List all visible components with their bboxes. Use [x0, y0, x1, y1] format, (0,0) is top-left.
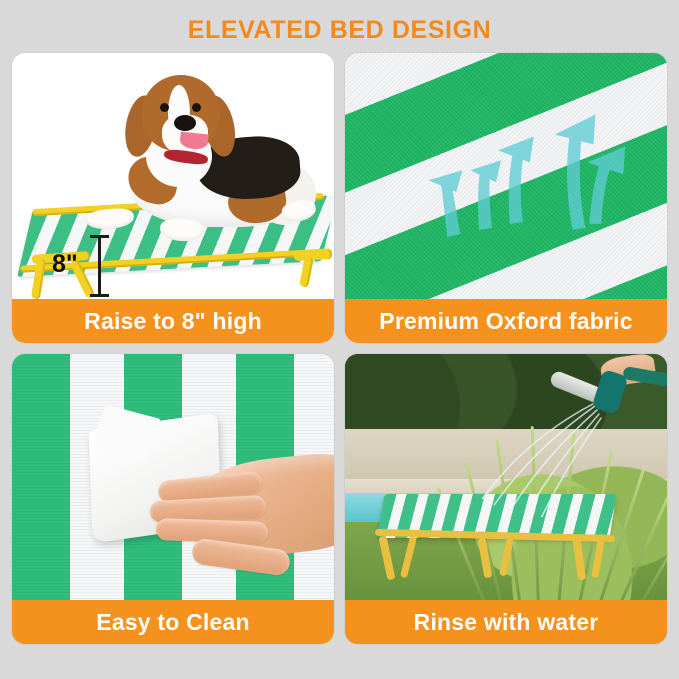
panel-fabric[interactable]: Premium Oxford fabric: [344, 52, 668, 344]
dog-icon: [68, 71, 308, 251]
panel-rinse-caption: Rinse with water: [345, 600, 667, 644]
page-title: ELEVATED BED DESIGN: [188, 18, 492, 43]
panel-fabric-caption: Premium Oxford fabric: [345, 299, 667, 343]
dog-nose: [174, 115, 196, 131]
dimension-line: [98, 235, 101, 297]
dog-eye-right: [192, 103, 201, 112]
panel-rinse[interactable]: Rinse with water: [344, 353, 668, 645]
dog-paw-front-left: [85, 207, 135, 231]
panel-raise[interactable]: 8" Raise to 8" high: [11, 52, 335, 344]
panel-clean[interactable]: Easy to Clean: [11, 353, 335, 645]
dog-eye-left: [160, 103, 169, 112]
panel-raise-caption: Raise to 8" high: [12, 299, 334, 343]
hand-icon: [104, 450, 334, 590]
infographic-root: ELEVATED BED DESIGN: [0, 0, 679, 679]
feature-panel-grid: 8" Raise to 8" high: [11, 52, 668, 662]
dimension-label: 8": [52, 252, 78, 277]
panel-clean-caption: Easy to Clean: [12, 600, 334, 644]
dog-paw-front-right: [159, 218, 204, 242]
hose-nozzle-icon: [531, 362, 661, 422]
dimension-cap-bottom: [90, 294, 109, 297]
